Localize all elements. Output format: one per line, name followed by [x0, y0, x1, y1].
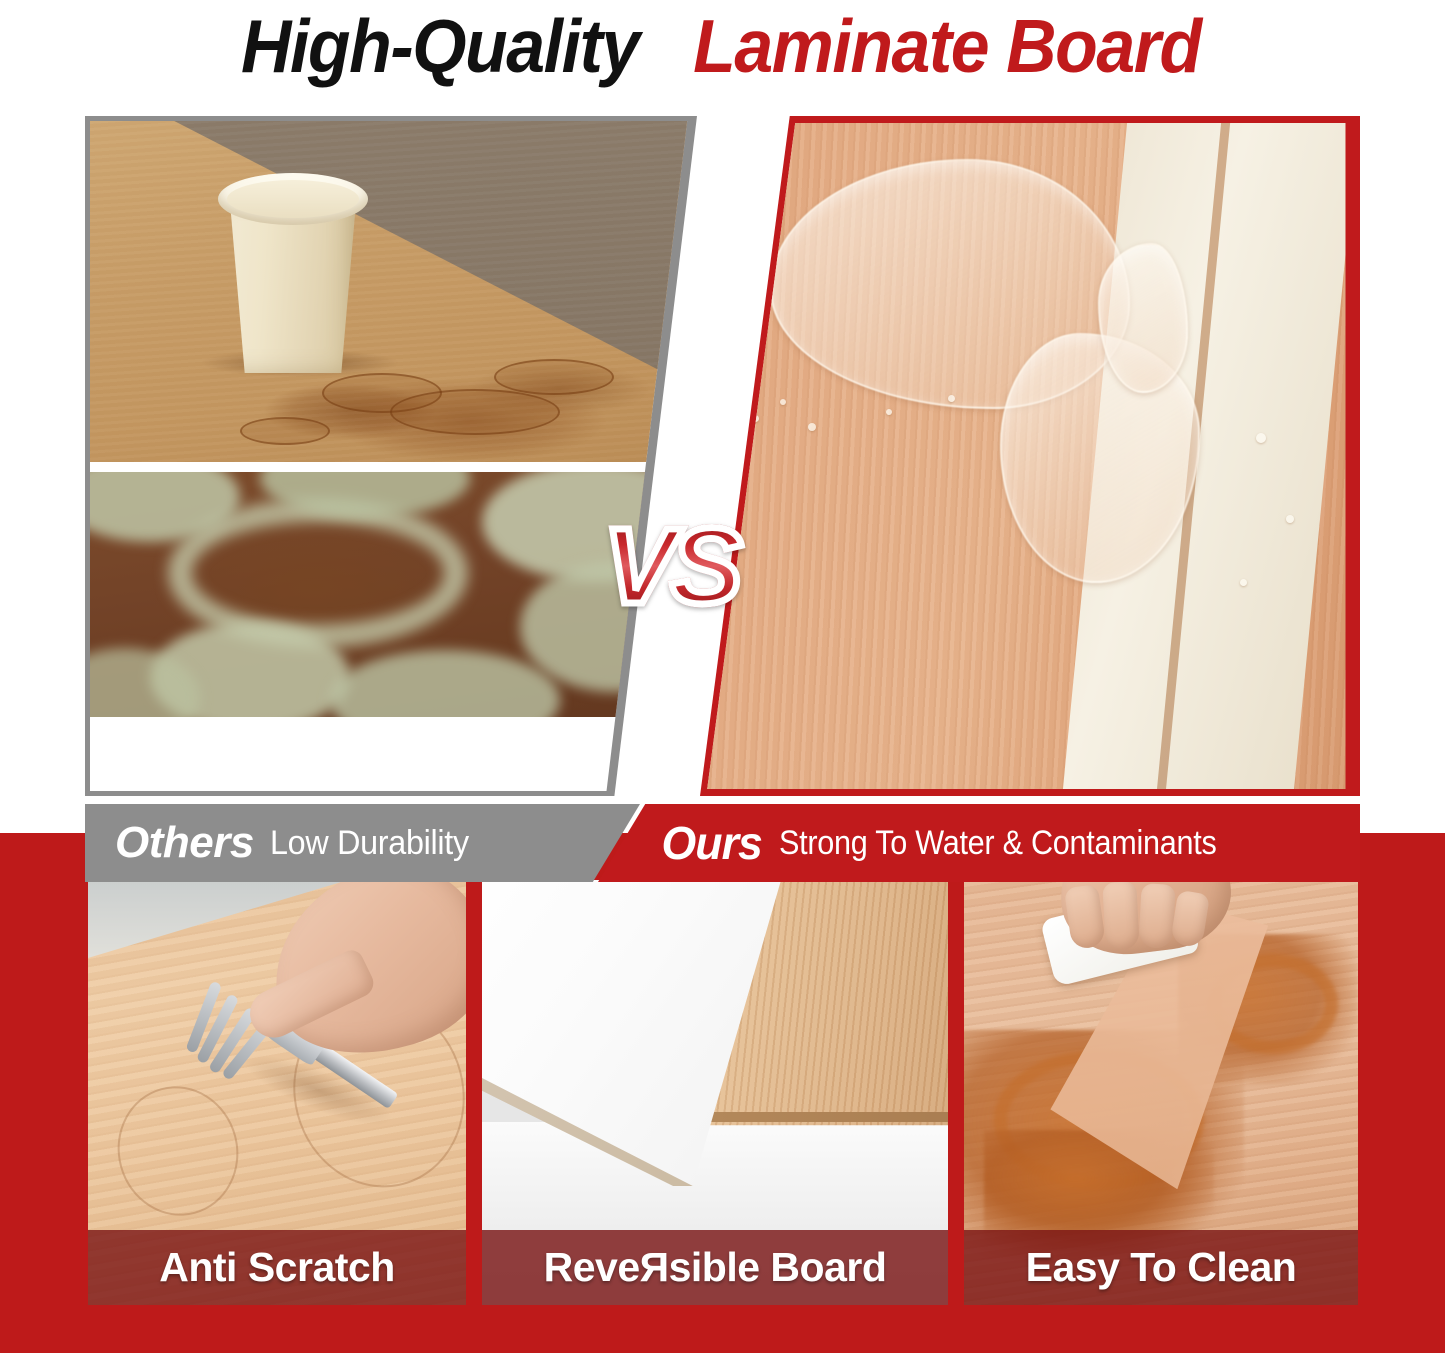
versus-badge: VS: [583, 506, 758, 626]
page-title-part-brand: Laminate Board: [693, 9, 1201, 84]
ours-title: Ours: [662, 820, 762, 866]
finger: [1102, 881, 1140, 951]
water-droplet: [1240, 579, 1247, 586]
page-title: High-Quality Laminate Board: [0, 2, 1445, 90]
image-coffee-spill-on-mdf: [90, 121, 692, 462]
feature-caption-bar: Easy To Clean: [964, 1230, 1358, 1305]
water-droplet: [1286, 515, 1294, 523]
water-droplet: [948, 395, 955, 402]
paper-cup: [218, 173, 368, 373]
cup-rim: [218, 173, 368, 225]
page-title-part-dark: High-Quality: [241, 9, 639, 84]
feature-caption-label: Easy To Clean: [1026, 1247, 1297, 1288]
water-droplet: [1256, 433, 1266, 443]
others-label-bar: Others Low Durability: [85, 804, 640, 882]
versus-label: VS: [603, 512, 737, 620]
finger: [1138, 883, 1175, 949]
spill-ring: [390, 389, 560, 435]
ours-subtitle: Strong To Water & Contaminants: [779, 826, 1217, 860]
feature-caption-label: ReveЯsible Board: [544, 1247, 887, 1288]
water-droplet: [726, 391, 735, 400]
others-title: Others: [115, 821, 254, 865]
feature-caption-bar: Anti Scratch: [88, 1230, 466, 1305]
feature-card-easy-to-clean: Easy To Clean: [964, 880, 1358, 1305]
features-section: Anti Scratch ReveЯsible Board Easy To Cl: [0, 833, 1445, 1353]
feature-card-reversible-board: ReveЯsible Board: [482, 880, 948, 1305]
ours-panel: [700, 116, 1360, 796]
others-panel-inner: [90, 121, 692, 791]
ours-label-bar: Ours Strong To Water & Contaminants: [598, 804, 1360, 882]
comparison-section: VS Others Low Durability Ours Strong To …: [0, 98, 1445, 798]
water-droplet: [808, 423, 816, 431]
others-subtitle: Low Durability: [270, 826, 469, 860]
water-droplet: [886, 409, 892, 415]
ours-panel-inner: [700, 123, 1352, 789]
water-droplet: [780, 399, 786, 405]
spill-ring: [240, 417, 330, 445]
water-droplet: [752, 415, 759, 422]
feature-caption-bar: ReveЯsible Board: [482, 1230, 948, 1305]
others-panel: [85, 116, 697, 796]
spill-ring: [494, 359, 614, 395]
feature-caption-label: Anti Scratch: [159, 1247, 395, 1288]
lower-board: [482, 1122, 948, 1230]
feature-card-anti-scratch: Anti Scratch: [88, 880, 466, 1305]
